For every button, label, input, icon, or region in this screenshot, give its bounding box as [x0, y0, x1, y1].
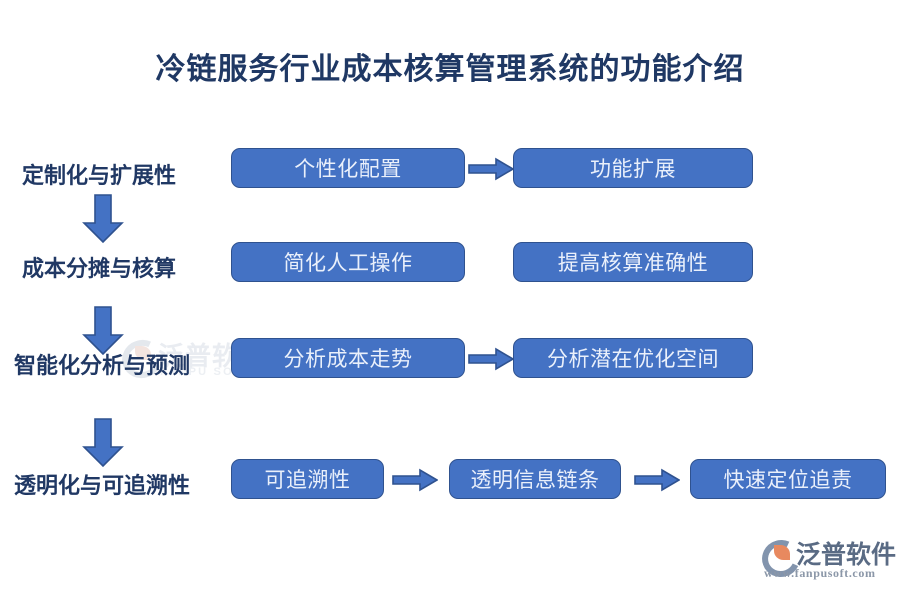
fanpu-logo-icon: [762, 540, 796, 566]
brand-logo: 泛普软件 www.fanpusoft.com: [762, 536, 892, 584]
arrow-down-1: [82, 194, 124, 244]
node-row4-col3[interactable]: 快速定位追责: [690, 459, 886, 499]
node-row2-col1[interactable]: 简化人工操作: [231, 242, 465, 282]
brand-url: www.fanpusoft.com: [764, 566, 876, 581]
node-row4-col1[interactable]: 可追溯性: [231, 459, 384, 499]
flow-diagram: 定制化与扩展性 个性化配置 功能扩展 成本分摊与核算 简化人工操作 提高核算准确…: [0, 0, 900, 600]
node-row3-col1[interactable]: 分析成本走势: [231, 338, 465, 378]
arrow-right-row3: [468, 347, 514, 371]
slide-canvas: 冷链服务行业成本核算管理系统的功能介绍 泛普软件 FANPU SOFTWARE …: [0, 0, 900, 600]
arrow-right-row1: [468, 157, 514, 181]
arrow-down-3: [82, 418, 124, 468]
row-label-3: 智能化分析与预测: [14, 348, 190, 380]
node-row1-col2[interactable]: 功能扩展: [513, 148, 753, 188]
row-label-1: 定制化与扩展性: [22, 158, 176, 190]
node-row2-col2[interactable]: 提高核算准确性: [513, 242, 753, 282]
node-row3-col2[interactable]: 分析潜在优化空间: [513, 338, 753, 378]
row-label-4: 透明化与可追溯性: [14, 468, 190, 500]
arrow-right-row4-b: [634, 468, 680, 492]
row-label-2: 成本分摊与核算: [22, 251, 176, 283]
node-row1-col1[interactable]: 个性化配置: [231, 148, 465, 188]
arrow-right-row4-a: [392, 468, 438, 492]
node-row4-col2[interactable]: 透明信息链条: [449, 459, 621, 499]
